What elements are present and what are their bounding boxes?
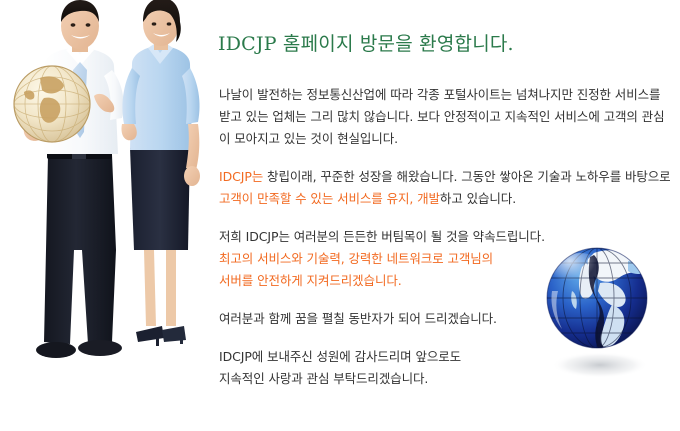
globe-shadow bbox=[552, 352, 648, 378]
page-title: IDCJP 홈페이지 방문을 환영합니다. bbox=[218, 29, 514, 56]
paragraph-growth-text-b: 하고 있습니다. bbox=[440, 191, 516, 206]
woman-leg-right bbox=[166, 250, 176, 326]
commitment-line-1: 저희 IDCJP는 여러분의 든든한 버팀목이 될 것을 약속드립니다. bbox=[219, 229, 545, 244]
woman-skirt bbox=[130, 148, 190, 250]
welcome-page: IDCJP 홈페이지 방문을 환영합니다. 나날이 발전하는 정보통신산업에 따… bbox=[0, 0, 680, 431]
blue-earth-globe-icon bbox=[542, 243, 654, 385]
commitment-line-3: 서버를 안전하게 지켜드리겠습니다. bbox=[219, 273, 402, 288]
thanks-line-2: 지속적인 사랑과 관심 부탁드리겠습니다. bbox=[219, 371, 428, 386]
paragraph-growth: IDCJP는 창립이래, 꾸준한 성장을 해왔습니다. 그동안 쌓아온 기술과 … bbox=[219, 166, 671, 210]
commitment-line-2: 최고의 서비스와 기술력, 강력한 네트워크로 고객님의 bbox=[219, 251, 493, 266]
man-trousers bbox=[44, 155, 116, 344]
woman-hand-right bbox=[184, 166, 200, 186]
thanks-line-1: IDCJP에 보내주신 성원에 감사드리며 앞으로도 bbox=[219, 349, 461, 364]
man-shoe-left bbox=[36, 342, 76, 358]
paragraph-intro: 나날이 발전하는 정보통신산업에 따라 각종 포털사이트는 넘쳐나지만 진정한 … bbox=[219, 84, 671, 150]
business-couple-photo bbox=[0, 0, 215, 400]
woman-shoe-left bbox=[136, 326, 164, 342]
woman-leg-left bbox=[144, 250, 156, 326]
service-promise-highlight: 고객이 만족할 수 있는 서비스를 유지, 개발 bbox=[219, 191, 440, 206]
brand-name-highlight: IDCJP는 bbox=[219, 169, 263, 184]
man-shoe-right bbox=[78, 340, 122, 356]
woman-hand-left bbox=[121, 124, 136, 140]
paragraph-growth-text-a: 창립이래, 꾸준한 성장을 해왔습니다. 그동안 쌓아온 기술과 노하우를 바탕… bbox=[263, 169, 670, 184]
globe-gloss bbox=[554, 253, 606, 293]
